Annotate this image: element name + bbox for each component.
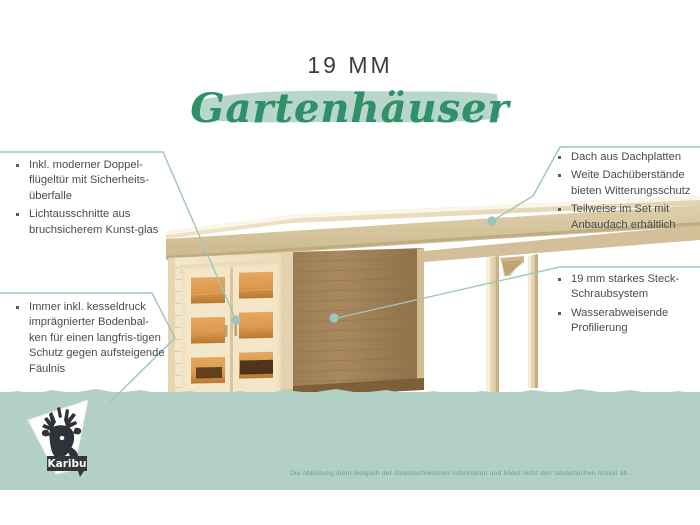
- callout-wall-system: 19 mm starkes Steck-Schraubsystem Wasser…: [556, 272, 700, 340]
- list-item: Inkl. moderner Doppel-flügeltür mit Sich…: [14, 158, 166, 204]
- callout-list: Dach aus Dachplatten Weite Dachüberständ…: [556, 150, 700, 233]
- callout-roof-features: Dach aus Dachplatten Weite Dachüberständ…: [556, 150, 700, 236]
- callout-doors-and-glazing: Inkl. moderner Doppel-flügeltür mit Sich…: [14, 158, 166, 241]
- page-title: Gartenhäuser: [0, 82, 700, 136]
- product-info-graphic: 19 MM Gartenhäuser Inkl. moderner Doppel…: [0, 0, 700, 525]
- callout-list: Inkl. moderner Doppel-flügeltür mit Sich…: [14, 158, 166, 238]
- logo-wordmark: Karibu: [48, 458, 87, 470]
- list-item: Dach aus Dachplatten: [556, 150, 700, 165]
- page-kicker: 19 MM: [0, 52, 700, 79]
- ground-torn-edge: [0, 386, 700, 398]
- title-block: Gartenhäuser: [0, 82, 700, 140]
- callout-list: 19 mm starkes Steck-Schraubsystem Wasser…: [556, 272, 700, 337]
- list-item: Wasserabweisende Profilierung: [556, 306, 700, 337]
- callout-floor-beams: Immer inkl. kesseldruck imprägnierter Bo…: [14, 300, 166, 380]
- list-item: Teilweise im Set mit Anbaudach erhältlic…: [556, 202, 700, 233]
- list-item: 19 mm starkes Steck-Schraubsystem: [556, 272, 700, 303]
- karibu-logo[interactable]: Karibu: [16, 398, 112, 482]
- disclaimer-text: Die Abbildung dient lediglich der datent…: [290, 470, 688, 477]
- list-item: Immer inkl. kesseldruck imprägnierter Bo…: [14, 300, 166, 377]
- callout-list: Immer inkl. kesseldruck imprägnierter Bo…: [14, 300, 166, 377]
- list-item: Weite Dachüberstände bieten Witterungssc…: [556, 168, 700, 199]
- list-item: Lichtausschnitte aus bruchsicherem Kunst…: [14, 207, 166, 238]
